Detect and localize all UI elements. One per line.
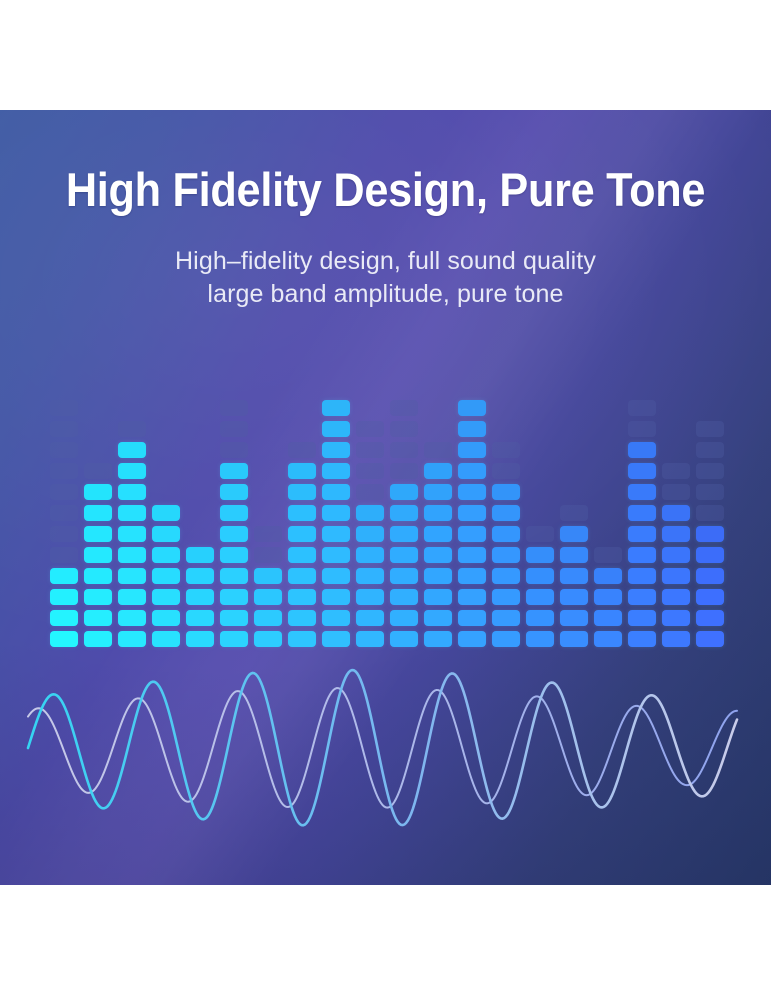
equalizer-cell-inactive: [50, 505, 78, 521]
equalizer-cell-active: [390, 568, 418, 584]
equalizer-column: [152, 395, 180, 647]
equalizer-cell-inactive: [492, 463, 520, 479]
equalizer-cell-active: [322, 589, 350, 605]
equalizer-cell-active: [628, 568, 656, 584]
equalizer-cell-active: [594, 568, 622, 584]
equalizer-cell-inactive: [492, 442, 520, 458]
equalizer-cell-active: [220, 589, 248, 605]
subtitle-line-2: large band amplitude, pure tone: [0, 278, 771, 311]
equalizer-cell-active: [186, 547, 214, 563]
page-title: High Fidelity Design, Pure Tone: [31, 165, 740, 215]
equalizer-cell-active: [458, 463, 486, 479]
equalizer-cell-inactive: [118, 421, 146, 437]
equalizer-cell-active: [628, 526, 656, 542]
equalizer-cell-active: [152, 505, 180, 521]
equalizer-cell-inactive: [628, 421, 656, 437]
equalizer-cell-active: [84, 610, 112, 626]
equalizer-cell-active: [186, 610, 214, 626]
equalizer-cell-active: [152, 526, 180, 542]
equalizer-cell-active: [322, 400, 350, 416]
equalizer-cell-active: [696, 631, 724, 647]
equalizer-cell-active: [322, 463, 350, 479]
equalizer-cell-active: [424, 547, 452, 563]
equalizer-cell-active: [526, 631, 554, 647]
equalizer-cell-inactive: [390, 421, 418, 437]
equalizer-cell-inactive: [254, 526, 282, 542]
equalizer-cell-active: [424, 505, 452, 521]
equalizer-cell-active: [220, 631, 248, 647]
equalizer-cell-active: [288, 547, 316, 563]
equalizer-cell-inactive: [390, 442, 418, 458]
equalizer-column: [662, 395, 690, 647]
equalizer-cell-active: [492, 589, 520, 605]
equalizer-column: [118, 395, 146, 647]
equalizer-cell-active: [322, 442, 350, 458]
equalizer-cell-active: [594, 631, 622, 647]
equalizer-cell-active: [118, 463, 146, 479]
equalizer-cell-active: [50, 610, 78, 626]
equalizer-cell-inactive: [662, 484, 690, 500]
equalizer-cell-active: [526, 547, 554, 563]
equalizer-cell-inactive: [220, 400, 248, 416]
equalizer-cell-inactive: [696, 463, 724, 479]
equalizer-cell-active: [560, 589, 588, 605]
equalizer-cell-active: [560, 568, 588, 584]
equalizer-cell-inactive: [696, 484, 724, 500]
equalizer-cell-inactive: [356, 421, 384, 437]
equalizer-column: [322, 395, 350, 647]
equalizer-cell-active: [458, 526, 486, 542]
equalizer-cell-active: [118, 568, 146, 584]
equalizer-cell-active: [288, 631, 316, 647]
equalizer-column: [390, 395, 418, 647]
equalizer-cell-inactive: [696, 505, 724, 521]
equalizer-cell-active: [118, 442, 146, 458]
equalizer-cell-inactive: [696, 421, 724, 437]
equalizer-column: [594, 395, 622, 647]
equalizer-cell-active: [662, 631, 690, 647]
equalizer-cell-active: [220, 610, 248, 626]
waveform-chart: [0, 665, 771, 855]
equalizer-cell-active: [662, 610, 690, 626]
equalizer-cell-active: [662, 526, 690, 542]
equalizer-cell-active: [50, 631, 78, 647]
equalizer-cell-active: [220, 463, 248, 479]
equalizer-cell-active: [322, 547, 350, 563]
equalizer-cell-active: [50, 589, 78, 605]
equalizer-cell-active: [424, 463, 452, 479]
equalizer-cell-active: [390, 631, 418, 647]
equalizer-cell-active: [424, 484, 452, 500]
equalizer-cell-active: [628, 505, 656, 521]
equalizer-cell-active: [356, 610, 384, 626]
equalizer-cell-active: [424, 526, 452, 542]
equalizer-cell-active: [254, 610, 282, 626]
equalizer-cell-inactive: [50, 421, 78, 437]
equalizer-cell-active: [356, 631, 384, 647]
equalizer-cell-active: [220, 568, 248, 584]
equalizer-cell-active: [118, 589, 146, 605]
equalizer-cell-inactive: [390, 400, 418, 416]
bottom-margin: [0, 885, 771, 1000]
equalizer-cell-active: [118, 505, 146, 521]
equalizer-cell-active: [152, 547, 180, 563]
equalizer-cell-active: [322, 505, 350, 521]
equalizer-column: [492, 395, 520, 647]
equalizer-column: [220, 395, 248, 647]
equalizer-cell-active: [390, 505, 418, 521]
equalizer-cell-inactive: [50, 547, 78, 563]
equalizer-cell-active: [424, 631, 452, 647]
equalizer-cell-active: [594, 589, 622, 605]
equalizer-cell-active: [424, 589, 452, 605]
equalizer-cell-active: [288, 505, 316, 521]
equalizer-column: [356, 395, 384, 647]
equalizer-cell-active: [390, 610, 418, 626]
equalizer-cell-inactive: [50, 400, 78, 416]
equalizer-cell-active: [254, 589, 282, 605]
equalizer-cell-active: [390, 589, 418, 605]
equalizer-cell-active: [390, 484, 418, 500]
equalizer-cell-active: [458, 631, 486, 647]
equalizer-cell-inactive: [288, 442, 316, 458]
equalizer-cell-inactive: [50, 526, 78, 542]
equalizer-cell-active: [628, 463, 656, 479]
equalizer-cell-active: [84, 526, 112, 542]
equalizer-cell-active: [356, 547, 384, 563]
equalizer-cell-active: [492, 526, 520, 542]
waveform-svg: [0, 665, 771, 855]
equalizer-cell-inactive: [526, 526, 554, 542]
equalizer-cell-inactive: [356, 463, 384, 479]
equalizer-cell-active: [254, 568, 282, 584]
equalizer-column: [560, 395, 588, 647]
equalizer-cell-active: [458, 484, 486, 500]
equalizer-chart: [50, 395, 726, 647]
equalizer-cell-active: [322, 610, 350, 626]
equalizer-cell-active: [152, 610, 180, 626]
equalizer-cell-active: [458, 442, 486, 458]
equalizer-cell-inactive: [50, 442, 78, 458]
equalizer-cell-inactive: [424, 442, 452, 458]
equalizer-cell-active: [458, 568, 486, 584]
equalizer-cell-active: [322, 526, 350, 542]
equalizer-cell-active: [662, 547, 690, 563]
equalizer-cell-active: [526, 610, 554, 626]
equalizer-cell-inactive: [50, 484, 78, 500]
equalizer-cell-active: [696, 526, 724, 542]
equalizer-column: [458, 395, 486, 647]
equalizer-cell-active: [458, 421, 486, 437]
equalizer-cell-active: [628, 610, 656, 626]
equalizer-cell-inactive: [220, 442, 248, 458]
equalizer-cell-active: [492, 505, 520, 521]
equalizer-cell-active: [458, 547, 486, 563]
equalizer-cell-active: [696, 547, 724, 563]
equalizer-cell-active: [322, 631, 350, 647]
equalizer-cell-inactive: [356, 484, 384, 500]
equalizer-cell-active: [492, 631, 520, 647]
equalizer-cell-active: [186, 589, 214, 605]
subtitle-line-1: High–fidelity design, full sound quality: [0, 245, 771, 278]
equalizer-cell-active: [288, 610, 316, 626]
equalizer-cell-active: [84, 505, 112, 521]
equalizer-cell-active: [84, 484, 112, 500]
equalizer-cell-active: [118, 526, 146, 542]
equalizer-cell-active: [560, 610, 588, 626]
equalizer-column: [186, 395, 214, 647]
equalizer-cell-active: [492, 547, 520, 563]
equalizer-cell-active: [84, 589, 112, 605]
equalizer-cell-active: [560, 526, 588, 542]
equalizer-column: [254, 395, 282, 647]
equalizer-cell-active: [288, 589, 316, 605]
equalizer-column: [696, 395, 724, 647]
equalizer-cell-inactive: [390, 463, 418, 479]
equalizer-cell-inactive: [628, 400, 656, 416]
equalizer-cell-active: [322, 568, 350, 584]
equalizer-cell-active: [560, 631, 588, 647]
equalizer-cell-inactive: [50, 463, 78, 479]
equalizer-cell-active: [458, 400, 486, 416]
equalizer-cell-active: [560, 547, 588, 563]
equalizer-cell-active: [458, 589, 486, 605]
equalizer-cell-inactive: [356, 442, 384, 458]
equalizer-cell-active: [356, 589, 384, 605]
equalizer-cell-active: [628, 631, 656, 647]
equalizer-cell-active: [458, 610, 486, 626]
equalizer-cell-active: [390, 547, 418, 563]
equalizer-cell-active: [594, 610, 622, 626]
equalizer-cell-active: [492, 484, 520, 500]
equalizer-cell-active: [254, 631, 282, 647]
equalizer-cell-active: [220, 547, 248, 563]
equalizer-cell-active: [118, 484, 146, 500]
equalizer-cell-active: [662, 505, 690, 521]
equalizer-cell-active: [424, 610, 452, 626]
equalizer-cell-inactive: [696, 442, 724, 458]
equalizer-cell-active: [152, 631, 180, 647]
equalizer-cell-active: [628, 442, 656, 458]
equalizer-cell-active: [492, 568, 520, 584]
equalizer-cell-active: [84, 547, 112, 563]
equalizer-cell-active: [424, 568, 452, 584]
equalizer-cell-active: [662, 589, 690, 605]
equalizer-cell-active: [696, 568, 724, 584]
equalizer-cell-inactive: [220, 421, 248, 437]
equalizer-cell-active: [492, 610, 520, 626]
equalizer-cell-active: [628, 484, 656, 500]
equalizer-cell-active: [84, 631, 112, 647]
equalizer-cell-inactive: [84, 463, 112, 479]
equalizer-cell-inactive: [594, 547, 622, 563]
equalizer-cell-active: [186, 568, 214, 584]
equalizer-column: [526, 395, 554, 647]
equalizer-cell-active: [390, 526, 418, 542]
equalizer-cell-active: [118, 610, 146, 626]
equalizer-cell-active: [322, 484, 350, 500]
equalizer-cell-inactive: [662, 463, 690, 479]
equalizer-cell-active: [322, 421, 350, 437]
equalizer-cell-active: [628, 547, 656, 563]
equalizer-cell-active: [696, 610, 724, 626]
top-margin: [0, 0, 771, 110]
equalizer-cell-active: [356, 526, 384, 542]
equalizer-cell-active: [50, 568, 78, 584]
equalizer-cell-active: [356, 568, 384, 584]
equalizer-cell-active: [152, 589, 180, 605]
equalizer-cell-active: [526, 568, 554, 584]
equalizer-cell-active: [662, 568, 690, 584]
equalizer-cell-active: [526, 589, 554, 605]
equalizer-cell-active: [288, 568, 316, 584]
equalizer-column: [424, 395, 452, 647]
equalizer-column: [288, 395, 316, 647]
equalizer-cell-active: [118, 631, 146, 647]
equalizer-cell-active: [628, 589, 656, 605]
equalizer-cell-active: [220, 526, 248, 542]
equalizer-cell-active: [152, 568, 180, 584]
equalizer-cell-active: [118, 547, 146, 563]
equalizer-cell-active: [220, 484, 248, 500]
equalizer-cell-active: [288, 526, 316, 542]
equalizer-cell-active: [696, 589, 724, 605]
equalizer-cell-inactive: [560, 505, 588, 521]
equalizer-column: [50, 395, 78, 647]
page-root: High Fidelity Design, Pure Tone High–fid…: [0, 0, 771, 1000]
equalizer-column: [84, 395, 112, 647]
equalizer-cell-active: [356, 505, 384, 521]
equalizer-column: [628, 395, 656, 647]
equalizer-cell-active: [288, 463, 316, 479]
equalizer-cell-active: [288, 484, 316, 500]
promo-banner: High Fidelity Design, Pure Tone High–fid…: [0, 110, 771, 885]
equalizer-cell-active: [458, 505, 486, 521]
equalizer-cell-inactive: [254, 547, 282, 563]
equalizer-cell-active: [84, 568, 112, 584]
equalizer-cell-active: [220, 505, 248, 521]
page-subtitle: High–fidelity design, full sound quality…: [0, 245, 771, 311]
equalizer-cell-active: [186, 631, 214, 647]
